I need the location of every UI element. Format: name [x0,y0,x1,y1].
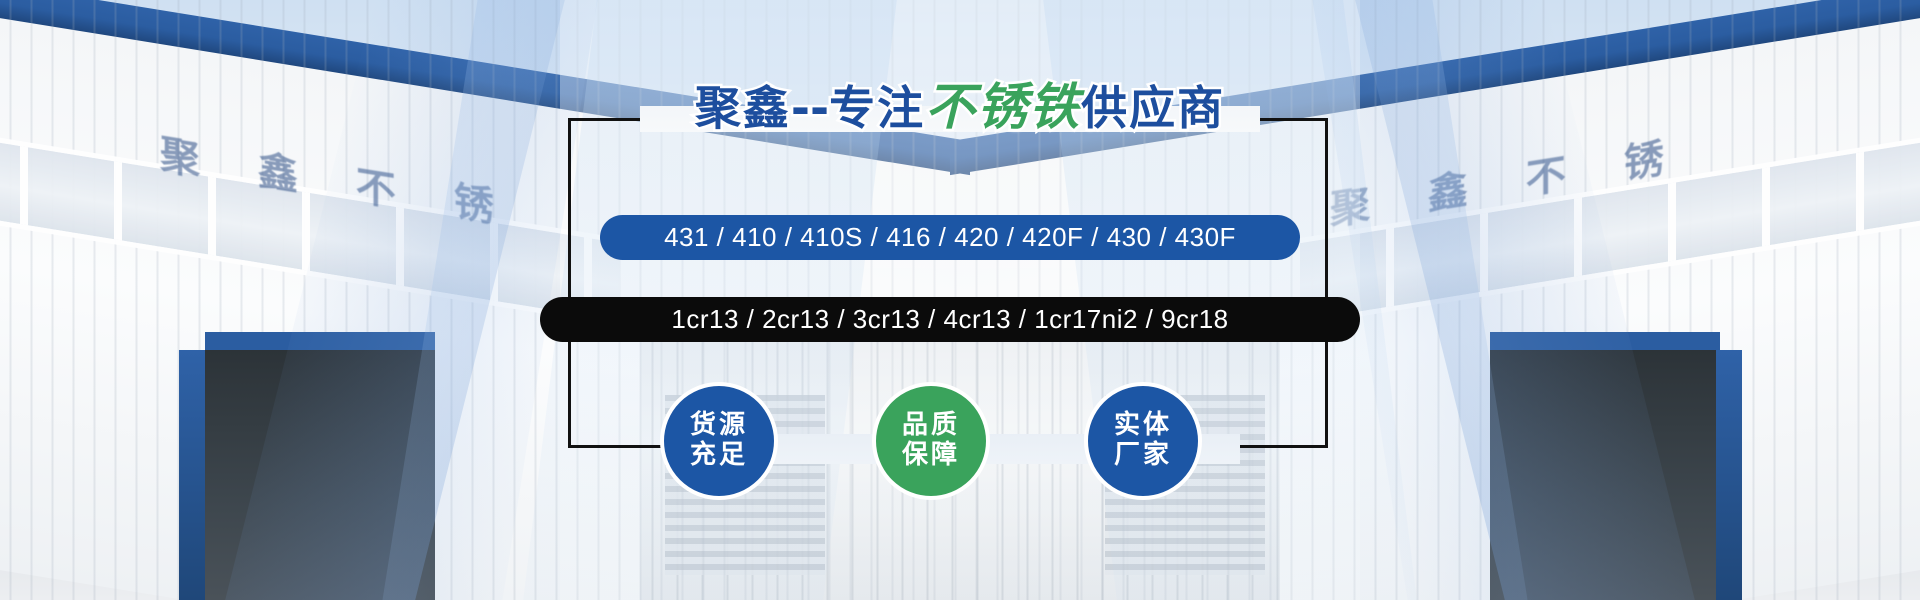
headline-dash: -- [791,85,829,131]
badge-factory-line2: 厂家 [1114,441,1172,471]
grade-bar-dark: 1cr13 / 2cr13 / 3cr13 / 4cr13 / 1cr17ni2… [540,297,1360,342]
badge-quality-line1: 品质 [902,411,960,441]
banner-content: 聚鑫--专注不锈铁供应商 431 / 410 / 410S / 416 / 42… [0,0,1920,600]
headline-highlight: 不锈铁 [925,82,1081,132]
badge-supply: 货源 充足 [660,382,778,500]
headline-part-1: 聚鑫 [695,85,791,131]
grade-bar-blue-text: 431 / 410 / 410S / 416 / 420 / 420F / 43… [664,222,1236,253]
badge-quality-line2: 保障 [902,441,960,471]
grade-bar-dark-text: 1cr13 / 2cr13 / 3cr13 / 4cr13 / 1cr17ni2… [671,304,1228,335]
badge-factory: 实体 厂家 [1084,382,1202,500]
badge-supply-line2: 充足 [690,441,748,471]
headline-part-2: 专注 [829,85,925,131]
feature-badges: 货源 充足 品质 保障 实体 厂家 [660,382,1240,512]
headline-part-3: 供应商 [1081,85,1225,131]
badge-factory-line1: 实体 [1114,411,1172,441]
badge-quality: 品质 保障 [872,382,990,500]
grade-bar-blue: 431 / 410 / 410S / 416 / 420 / 420F / 43… [600,215,1300,260]
hero-banner: 聚 鑫 不 锈 聚 鑫 不 锈 聚鑫--专注不锈铁供应商 431 / 410 /… [0,0,1920,600]
badge-supply-line1: 货源 [690,411,748,441]
page-title: 聚鑫--专注不锈铁供应商 [0,82,1920,132]
